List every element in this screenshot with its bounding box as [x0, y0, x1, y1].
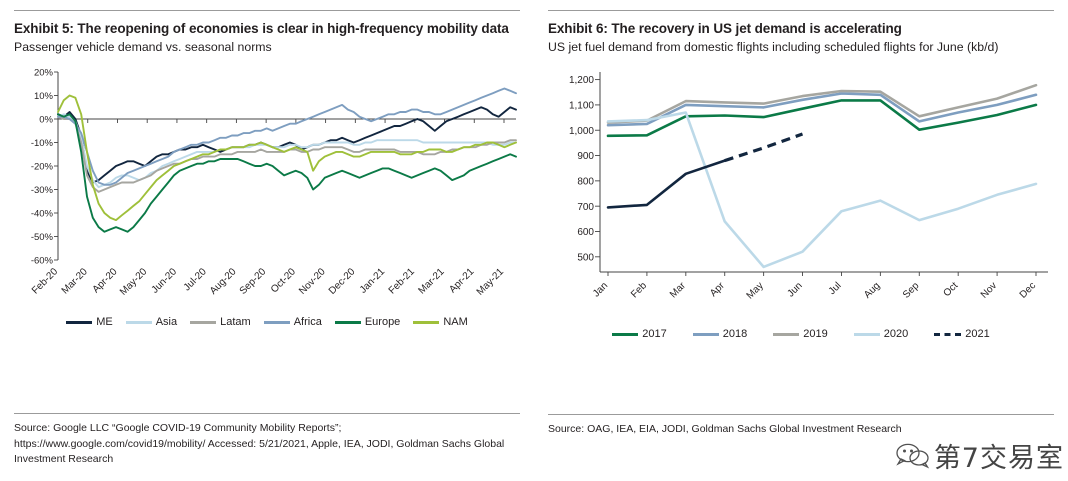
x-axis-label: Dec: [1018, 281, 1038, 301]
exhibit-6-subtitle: US jet fuel demand from domestic flights…: [548, 40, 1054, 56]
legend-label: NAM: [443, 316, 467, 328]
y-axis-tick-label: -60%: [31, 256, 54, 267]
x-axis-label: Nov: [979, 281, 999, 301]
exhibit-6-panel: Exhibit 6: The recovery in US jet demand…: [534, 0, 1068, 481]
y-axis-tick-label: 500: [577, 253, 594, 264]
x-axis-label: Apr: [708, 280, 727, 299]
exhibit-6-source: Source: OAG, IEA, EIA, JODI, Goldman Sac…: [548, 422, 1054, 437]
series-line-nam: [58, 96, 516, 221]
x-axis-label: Jun-20: [150, 266, 180, 296]
exhibit-6-chart: 1,2001,1001,000900800700600500JanFebMarA…: [548, 64, 1054, 326]
legend-item-2021[interactable]: 2021: [934, 328, 989, 340]
y-axis-tick-label: 1,100: [569, 101, 594, 112]
exhibit-6-footer: Source: OAG, IEA, EIA, JODI, Goldman Sac…: [548, 414, 1054, 437]
x-axis-label: Feb: [629, 280, 649, 300]
x-axis-label: Jan-21: [358, 266, 388, 296]
legend-swatch: [854, 333, 880, 336]
legend-swatch: [264, 321, 290, 324]
x-axis-label: Jul: [827, 281, 844, 298]
legend-label: Asia: [156, 316, 177, 328]
x-axis-label: Nov-20: [297, 266, 328, 297]
y-axis-tick-label: -20%: [31, 162, 54, 173]
legend-item-nam[interactable]: NAM: [413, 316, 467, 328]
series-line-2021-forecast: [725, 134, 803, 161]
legend-item-2019[interactable]: 2019: [773, 328, 827, 340]
series-line-latam: [58, 117, 516, 192]
x-axis-label: Aug: [862, 281, 882, 301]
x-axis-label: Aug-20: [208, 266, 239, 297]
legend-label: 2019: [803, 328, 827, 340]
legend-swatch: [190, 321, 216, 324]
wechat-icon: [896, 443, 930, 469]
x-axis-label: Mar-21: [416, 266, 446, 296]
exhibit-5-chart: 20%10%0%-10%-20%-30%-40%-50%-60%Feb-20Ma…: [14, 64, 520, 314]
legend-swatch: [413, 321, 439, 324]
legend-item-2017[interactable]: 2017: [612, 328, 666, 340]
legend-label: Africa: [294, 316, 322, 328]
x-axis-label: Oct-20: [269, 266, 298, 295]
x-axis-label: Oct: [942, 280, 961, 299]
legend-swatch: [934, 333, 961, 336]
legend-swatch: [66, 321, 92, 324]
x-axis-label: May: [745, 281, 766, 302]
series-line-2017: [608, 101, 1036, 136]
x-axis-label: Apr-20: [91, 266, 120, 295]
exhibit-5-title: Exhibit 5: The reopening of economies is…: [14, 20, 520, 37]
x-axis-label: Mar-20: [60, 266, 90, 296]
legend-item-latam[interactable]: Latam: [190, 316, 251, 328]
y-axis-tick-label: 10%: [34, 91, 54, 102]
exhibit-6-legend: 20172018201920202021: [548, 328, 1054, 340]
y-axis-tick-label: 700: [577, 202, 594, 213]
x-axis-label: Sep-20: [238, 266, 269, 297]
jet-demand-line-chart: 1,2001,1001,000900800700600500JanFebMarA…: [548, 64, 1054, 326]
y-axis-tick-label: 800: [577, 177, 594, 188]
series-line-2021: [608, 161, 725, 208]
legend-label: Europe: [365, 316, 400, 328]
watermark-text: 第7交易室: [934, 436, 1064, 475]
panel-top-divider: [14, 10, 520, 11]
legend-swatch: [126, 321, 152, 324]
x-axis-label: Feb-21: [387, 266, 417, 296]
legend-label: Latam: [220, 316, 251, 328]
x-axis-label: Dec-20: [327, 266, 358, 297]
legend-item-me[interactable]: ME: [66, 316, 113, 328]
legend-label: 2017: [642, 328, 666, 340]
x-axis-label: May-20: [118, 266, 150, 298]
legend-label: ME: [96, 316, 113, 328]
y-axis-tick-label: 900: [577, 151, 594, 162]
series-line-africa: [58, 89, 516, 185]
exhibit-6-title: Exhibit 6: The recovery in US jet demand…: [548, 20, 1054, 37]
exhibit-5-panel: Exhibit 5: The reopening of economies is…: [0, 0, 534, 481]
y-axis-tick-label: -10%: [31, 138, 54, 149]
legend-label: 2018: [723, 328, 747, 340]
legend-item-europe[interactable]: Europe: [335, 316, 400, 328]
y-axis-tick-label: 20%: [34, 68, 54, 79]
x-axis-label: Jul-20: [182, 266, 209, 293]
y-axis-tick-label: 0%: [39, 115, 53, 126]
source-divider: [14, 413, 520, 414]
mobility-line-chart: 20%10%0%-10%-20%-30%-40%-50%-60%Feb-20Ma…: [14, 64, 520, 314]
legend-item-asia[interactable]: Asia: [126, 316, 177, 328]
x-axis-label: Mar: [668, 280, 688, 300]
legend-swatch: [773, 333, 799, 336]
legend-label: 2020: [884, 328, 908, 340]
exhibit-5-subtitle: Passenger vehicle demand vs. seasonal no…: [14, 40, 520, 56]
panel-top-divider: [548, 10, 1054, 11]
legend-item-africa[interactable]: Africa: [264, 316, 322, 328]
y-axis-tick-label: 1,200: [569, 75, 594, 86]
exhibit-5-legend: MEAsiaLatamAfricaEuropeNAM: [14, 316, 520, 328]
source-divider: [548, 414, 1054, 415]
legend-swatch: [335, 321, 361, 324]
legend-item-2018[interactable]: 2018: [693, 328, 747, 340]
x-axis-label: Feb-20: [30, 266, 60, 296]
wechat-watermark: 第7交易室: [896, 436, 1064, 475]
y-axis-tick-label: -30%: [31, 185, 54, 196]
y-axis-tick-label: -40%: [31, 209, 54, 220]
y-axis-tick-label: 600: [577, 227, 594, 238]
exhibit-page: Exhibit 5: The reopening of economies is…: [0, 0, 1068, 481]
legend-label: 2021: [965, 328, 989, 340]
series-line-2020: [608, 113, 1036, 267]
exhibit-5-footer: Source: Google LLC “Google COVID-19 Comm…: [14, 413, 520, 467]
legend-item-2020[interactable]: 2020: [854, 328, 908, 340]
legend-swatch: [612, 333, 638, 336]
legend-swatch: [693, 333, 719, 336]
y-axis-tick-label: 1,000: [569, 126, 594, 137]
x-axis-label: Jun: [785, 281, 804, 300]
x-axis-label: Jan: [591, 281, 610, 300]
exhibit-5-source: Source: Google LLC “Google COVID-19 Comm…: [14, 421, 520, 467]
x-axis-label: May-21: [475, 266, 507, 298]
x-axis-label: Apr-21: [447, 266, 476, 295]
y-axis-tick-label: -50%: [31, 232, 54, 243]
x-axis-label: Sep: [901, 280, 922, 301]
